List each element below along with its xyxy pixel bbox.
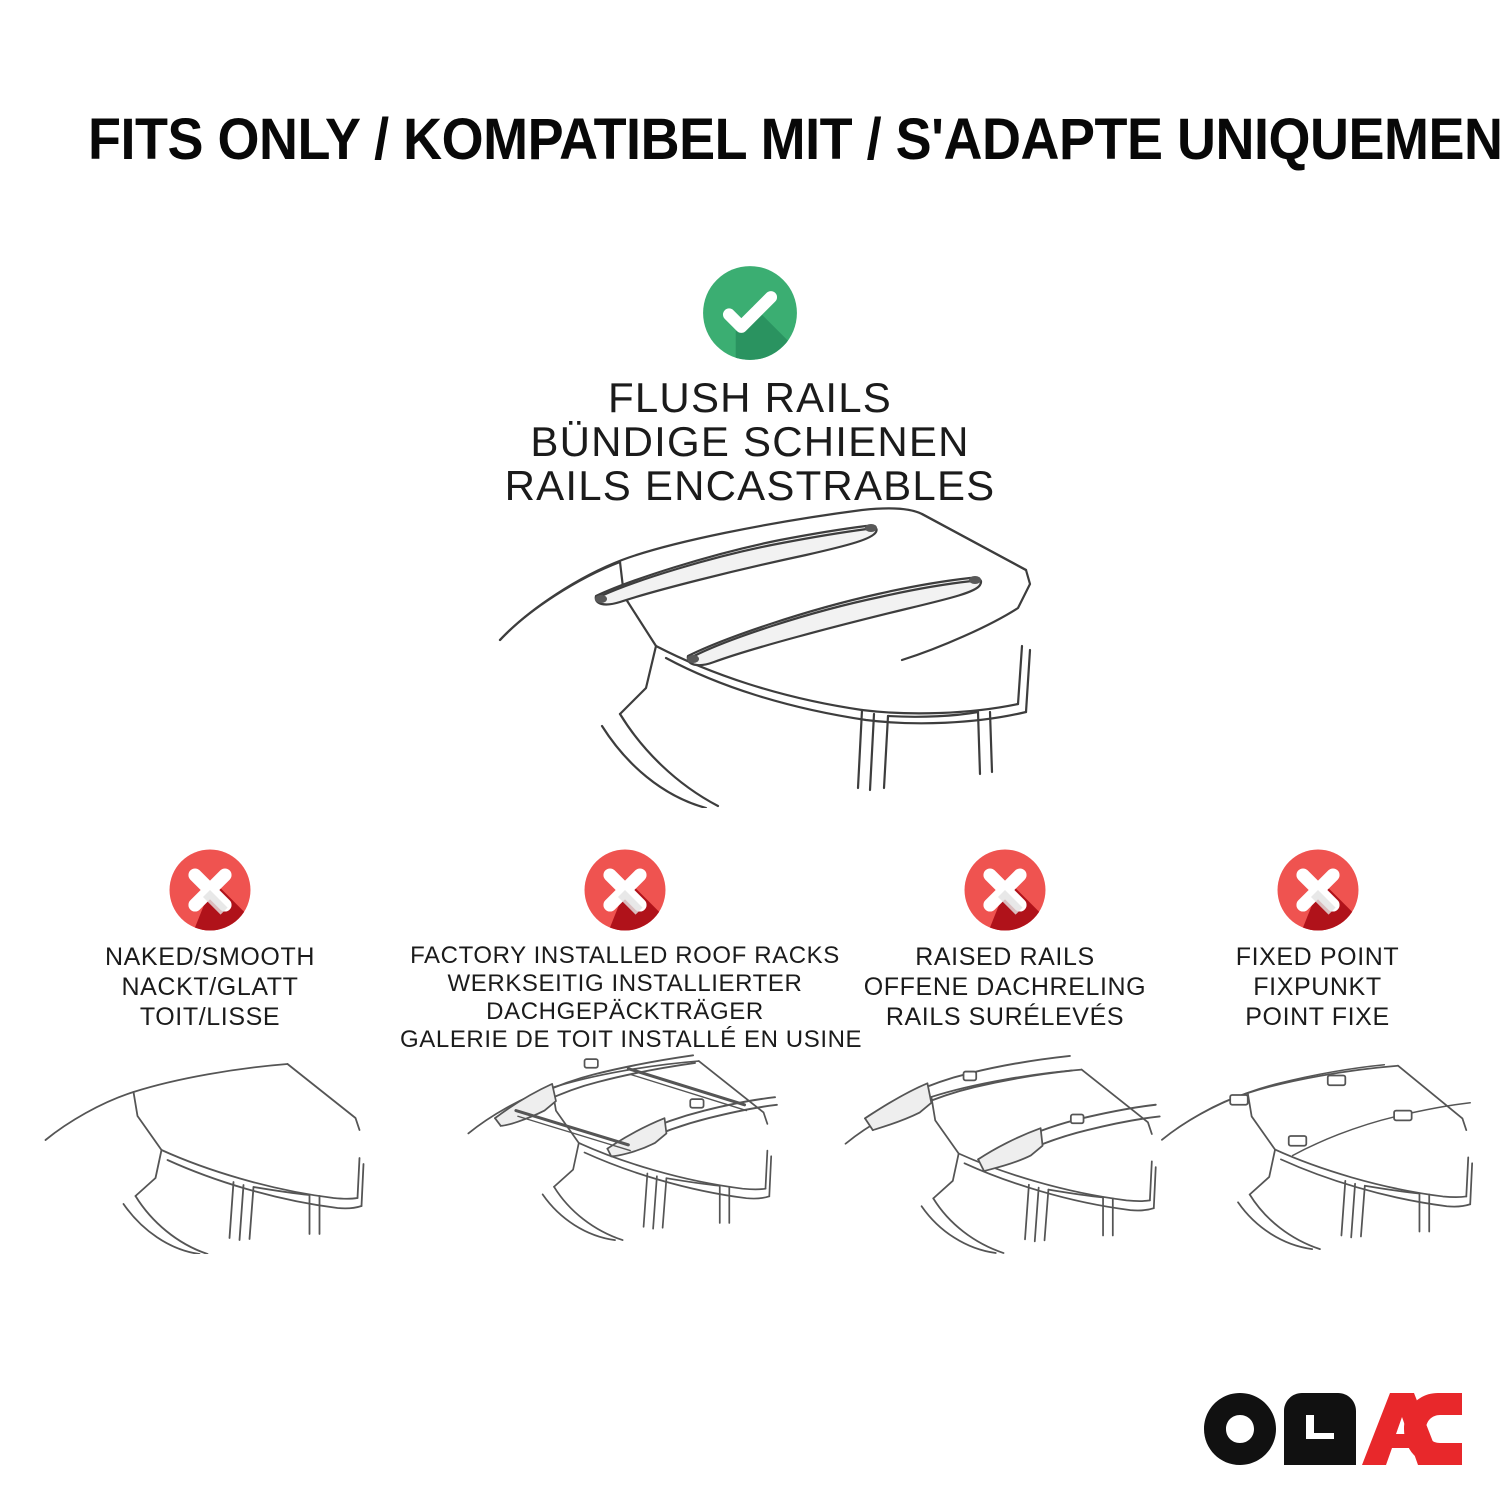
incompatible-labels-naked-smooth: NAKED/SMOOTH NACKT/GLATT TOIT/LISSE (35, 942, 385, 1032)
label-en: FACTORY INSTALLED ROOF RACKS (400, 942, 850, 970)
compatible-section: FLUSH RAILS BÜNDIGE SCHIENEN RAILS ENCAS… (0, 262, 1500, 508)
incompatible-item-naked-smooth: NAKED/SMOOTH NACKT/GLATT TOIT/LISSE (35, 846, 385, 1032)
label-de-1: WERKSEITIG INSTALLIERTER (400, 970, 850, 998)
page-title: FITS ONLY / KOMPATIBEL MIT / S'ADAPTE UN… (88, 108, 1334, 172)
label-fr: TOIT/LISSE (35, 1002, 385, 1032)
compatible-label-en: FLUSH RAILS (0, 376, 1500, 420)
cross-circle-icon (581, 846, 669, 934)
label-fr: POINT FIXE (1165, 1002, 1470, 1032)
cross-circle-icon (166, 846, 254, 934)
label-de-2: DACHGEPÄCKTRÄGER (400, 998, 850, 1026)
cross-circle-icon (1274, 846, 1362, 934)
incompatible-section: NAKED/SMOOTH NACKT/GLATT TOIT/LISSE (0, 846, 1500, 1326)
incompatible-item-fixed-point: FIXED POINT FIXPUNKT POINT FIXE (1165, 846, 1470, 1032)
cross-circle-icon (961, 846, 1049, 934)
logo-letter-o (1204, 1393, 1276, 1465)
logo-letter-m (1284, 1393, 1356, 1465)
compatibility-infographic: FITS ONLY / KOMPATIBEL MIT / S'ADAPTE UN… (0, 0, 1500, 1500)
compatible-label-de: BÜNDIGE SCHIENEN (0, 420, 1500, 464)
car-roof-flush-rails-illustration (470, 498, 1050, 808)
omac-logo-mark (1204, 1393, 1462, 1465)
car-roof-fixed-point-illustration (1148, 1054, 1488, 1254)
incompatible-item-raised-rails: RAISED RAILS OFFENE DACHRELING RAILS SUR… (850, 846, 1160, 1032)
label-en: NAKED/SMOOTH (35, 942, 385, 972)
compatible-labels: FLUSH RAILS BÜNDIGE SCHIENEN RAILS ENCAS… (0, 376, 1500, 508)
label-de: NACKT/GLATT (35, 972, 385, 1002)
label-en: RAISED RAILS (850, 942, 1160, 972)
label-en: FIXED POINT (1165, 942, 1470, 972)
incompatible-labels-fixed-point: FIXED POINT FIXPUNKT POINT FIXE (1165, 942, 1470, 1032)
incompatible-labels-raised-rails: RAISED RAILS OFFENE DACHRELING RAILS SUR… (850, 942, 1160, 1032)
omac-logo (1204, 1397, 1462, 1465)
check-circle-icon (699, 262, 801, 364)
incompatible-item-factory-roof-racks: FACTORY INSTALLED ROOF RACKS WERKSEITIG … (400, 846, 850, 1054)
label-fr: RAILS SURÉLEVÉS (850, 1002, 1160, 1032)
car-roof-factory-racks-illustration (453, 1042, 798, 1242)
car-roof-naked-smooth-illustration (38, 1054, 383, 1254)
label-de: OFFENE DACHRELING (850, 972, 1160, 1002)
incompatible-labels-factory-roof-racks: FACTORY INSTALLED ROOF RACKS WERKSEITIG … (400, 942, 850, 1054)
car-roof-raised-rails-illustration (828, 1054, 1183, 1254)
label-de: FIXPUNKT (1165, 972, 1470, 1002)
